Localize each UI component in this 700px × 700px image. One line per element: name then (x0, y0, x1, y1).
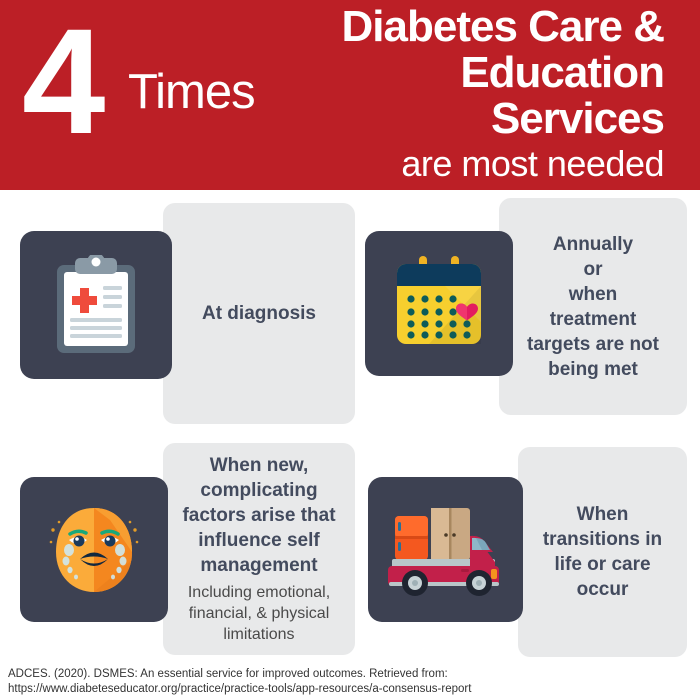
card-text-at-diagnosis: At diagnosis (202, 301, 316, 326)
card-icon-tile-at-diagnosis (20, 231, 172, 379)
infographic-page: 4 Times Diabetes Care & Education Servic… (0, 0, 700, 700)
card-text-complicating-line-4: influence self (198, 528, 319, 553)
card-icon-tile-annually (365, 231, 513, 376)
header-banner: 4 Times Diabetes Care & Education Servic… (0, 0, 700, 190)
clipboard-medical-icon (55, 255, 137, 355)
crying-face-icon (42, 500, 146, 600)
card-subtext-complicating-line-1: Including emotional, (188, 582, 330, 603)
card-text-complicating-line-2: complicating (200, 478, 317, 503)
hero-number: 4 (22, 6, 99, 156)
page-subtitle: are most needed (234, 142, 664, 186)
card-text-annually-line-3: when (569, 282, 618, 307)
card-panel-complicating-factors: When new, complicating factors arise tha… (163, 443, 355, 655)
footer-citation: ADCES. (2020). DSMES: An essential servi… (8, 667, 692, 697)
header-title-block: Diabetes Care & Education Services are m… (234, 4, 664, 186)
card-text-transitions-line-4: occur (577, 577, 629, 602)
card-text-transitions-line-1: When (577, 502, 629, 527)
page-title-line-3: Services (234, 96, 664, 142)
card-text-annually-line-2: or (584, 257, 603, 282)
card-panel-transitions: When transitions in life or care occur (518, 447, 687, 657)
card-subtext-complicating-line-3: limitations (223, 624, 294, 645)
card-text-annually-line-1: Annually (553, 232, 633, 257)
card-panel-annually: Annually or when treatment targets are n… (499, 198, 687, 415)
card-text-complicating-line-5: management (200, 553, 317, 578)
card-icon-tile-complicating-factors (20, 477, 168, 622)
card-subtext-complicating-line-2: financial, & physical (189, 603, 330, 624)
card-panel-at-diagnosis: At diagnosis (163, 203, 355, 424)
card-text-complicating-line-3: factors arise that (182, 503, 335, 528)
page-title-line-1: Diabetes Care & (234, 4, 664, 50)
card-text-transitions-line-3: life or care (554, 552, 650, 577)
card-text-annually-line-6: being met (548, 357, 638, 382)
card-text-complicating-line-1: When new, (210, 453, 309, 478)
card-icon-tile-transitions (368, 477, 523, 622)
moving-truck-icon (387, 502, 505, 598)
card-text-annually-line-4: treatment (550, 307, 637, 332)
card-text-transitions-line-2: transitions in (543, 527, 662, 552)
card-text-annually-line-5: targets are not (527, 332, 659, 357)
page-title-line-2: Education (234, 50, 664, 96)
calendar-heart-icon (389, 254, 489, 354)
